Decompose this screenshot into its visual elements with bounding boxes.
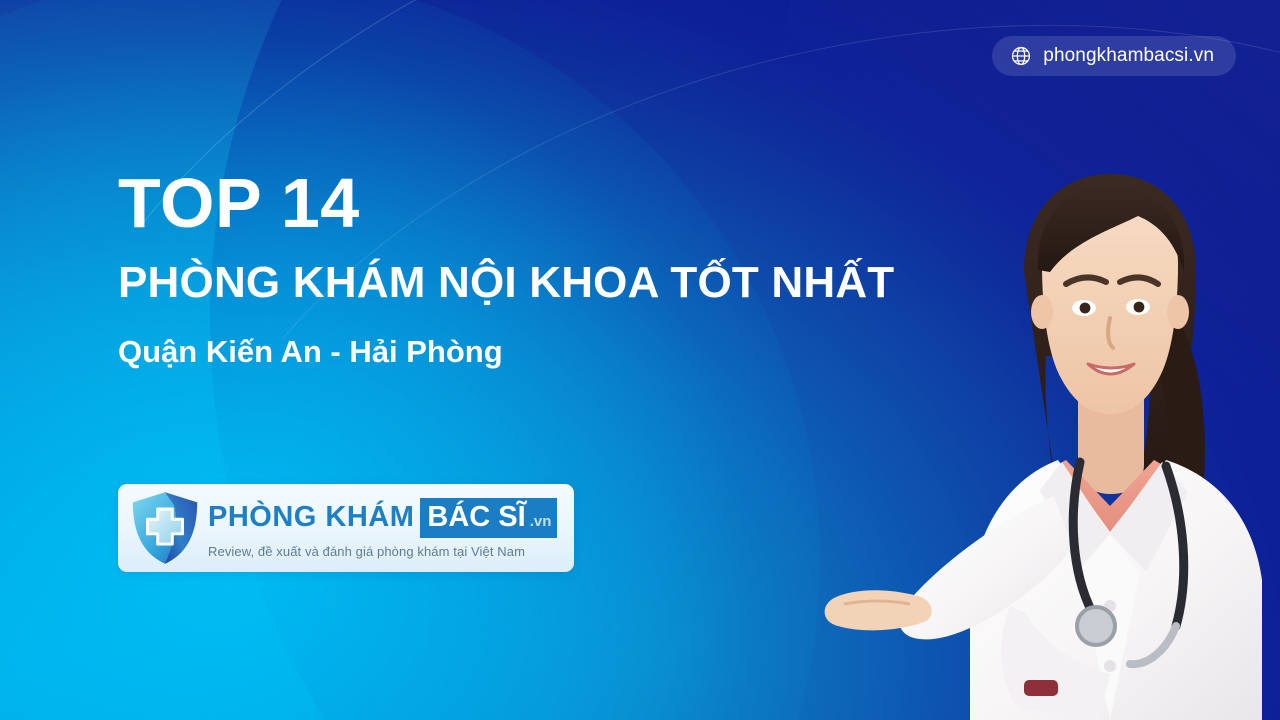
- website-url-badge[interactable]: phongkhambacsi.vn: [992, 36, 1236, 76]
- brand-tld: .vn: [530, 514, 552, 529]
- wristwatch: [1024, 680, 1058, 696]
- doctor-photo: [810, 160, 1280, 720]
- stethoscope-chestpiece: [1077, 607, 1115, 645]
- ear-left: [1031, 295, 1053, 329]
- brand-logo-card[interactable]: PHÒNG KHÁM BÁC SĨ .vn Review, đề xuất và…: [118, 484, 574, 572]
- shield-cross-icon: [128, 490, 202, 566]
- open-hand: [825, 590, 932, 630]
- ear-right: [1167, 295, 1189, 329]
- pupil-right: [1134, 302, 1145, 313]
- website-url-text: phongkhambacsi.vn: [1043, 45, 1214, 67]
- coat-button-2: [1104, 660, 1116, 672]
- promo-banner: phongkhambacsi.vn TOP 14 PHÒNG KHÁM NỘI …: [0, 0, 1280, 720]
- brand-name-row: PHÒNG KHÁM BÁC SĨ .vn: [208, 498, 557, 538]
- brand-tagline: Review, đề xuất và đánh giá phòng khám t…: [208, 544, 557, 559]
- globe-icon: [1010, 45, 1032, 67]
- brand-logo-text: PHÒNG KHÁM BÁC SĨ .vn Review, đề xuất và…: [208, 498, 557, 559]
- brand-name-boxed: BÁC SĨ .vn: [420, 498, 557, 538]
- brand-name-primary: PHÒNG KHÁM: [208, 503, 414, 532]
- brand-name-boxed-text: BÁC SĨ: [427, 503, 525, 532]
- pupil-left: [1080, 303, 1091, 314]
